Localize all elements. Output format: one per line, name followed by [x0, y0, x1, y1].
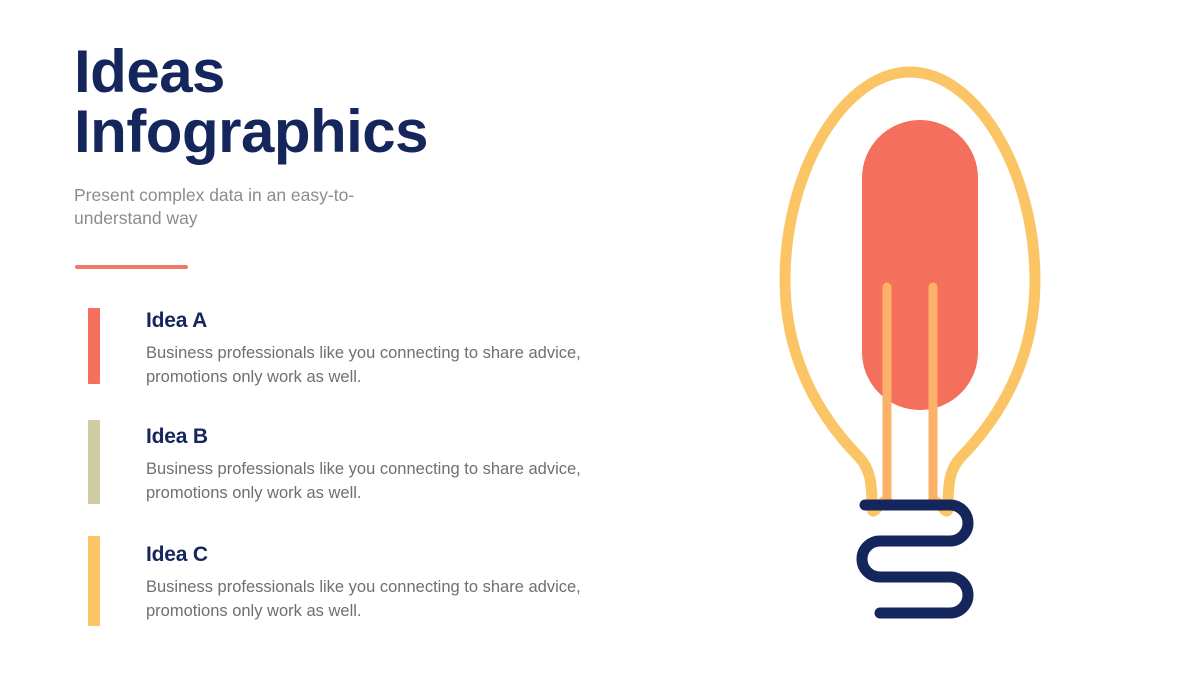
- idea-color-bar: [88, 536, 100, 626]
- idea-title: Idea A: [146, 308, 581, 333]
- idea-color-bar: [88, 308, 100, 384]
- accent-divider: [75, 265, 188, 269]
- idea-description: Business professionals like you connecti…: [146, 457, 581, 505]
- idea-description: Business professionals like you connecti…: [146, 575, 581, 623]
- list-item[interactable]: Idea C Business professionals like you c…: [88, 532, 688, 626]
- list-item[interactable]: Idea A Business professionals like you c…: [88, 308, 688, 389]
- page-title: Ideas Infographics: [74, 42, 684, 162]
- bulb-base-icon: [862, 505, 968, 613]
- idea-list: Idea A Business professionals like you c…: [88, 308, 688, 626]
- idea-description: Business professionals like you connecti…: [146, 341, 581, 389]
- lightbulb-illustration: [735, 45, 1095, 635]
- idea-text-block: Idea B Business professionals like you c…: [146, 416, 581, 505]
- slide-canvas: Ideas Infographics Present complex data …: [0, 0, 1200, 675]
- page-subtitle: Present complex data in an easy-to-under…: [74, 184, 374, 230]
- lightbulb-svg: [735, 45, 1095, 635]
- headline-block: Ideas Infographics Present complex data …: [74, 42, 684, 269]
- bulb-capsule-icon: [862, 120, 978, 410]
- idea-title: Idea C: [146, 542, 581, 567]
- idea-title: Idea B: [146, 424, 581, 449]
- idea-text-block: Idea C Business professionals like you c…: [146, 532, 581, 623]
- idea-color-bar: [88, 420, 100, 504]
- idea-text-block: Idea A Business professionals like you c…: [146, 308, 581, 389]
- list-item[interactable]: Idea B Business professionals like you c…: [88, 416, 688, 505]
